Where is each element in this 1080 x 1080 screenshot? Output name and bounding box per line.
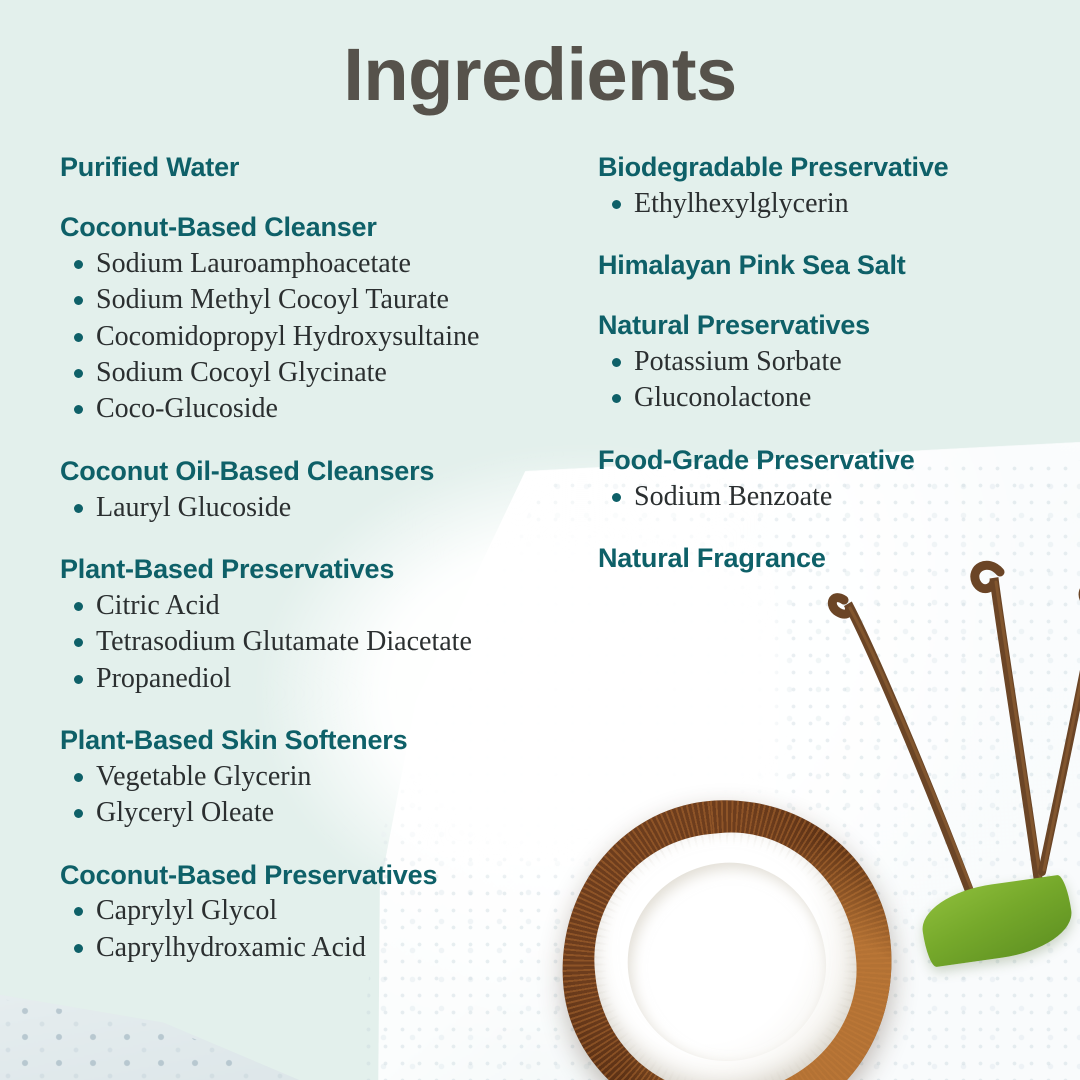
ingredient-group-heading: Plant-Based Skin Softeners <box>60 725 580 757</box>
ingredient-group: Himalayan Pink Sea Salt <box>598 250 1068 282</box>
ingredient-group: Plant-Based PreservativesCitric AcidTetr… <box>60 554 580 697</box>
ingredients-poster: Ingredients Purified WaterCoconut-Based … <box>0 0 1080 1080</box>
ingredient-group: Coconut-Based PreservativesCaprylyl Glyc… <box>60 860 580 967</box>
ingredient-group: Plant-Based Skin SoftenersVegetable Glyc… <box>60 725 580 832</box>
ingredient-group-heading: Coconut Oil-Based Cleansers <box>60 456 580 488</box>
ingredient-list: Sodium LauroamphoacetateSodium Methyl Co… <box>60 246 580 428</box>
ingredient-group: Food-Grade PreservativeSodium Benzoate <box>598 445 1068 515</box>
ingredient-list: Lauryl Glucoside <box>60 490 580 526</box>
page-title: Ingredients <box>0 38 1080 112</box>
ingredient-group-heading: Himalayan Pink Sea Salt <box>598 250 1068 282</box>
ingredient-group-heading: Purified Water <box>60 152 580 184</box>
ingredient-item: Propanediol <box>74 661 580 697</box>
ingredient-item: Caprylyl Glycol <box>74 893 580 929</box>
ingredients-column-right: Biodegradable PreservativeEthylhexylglyc… <box>598 152 1068 577</box>
ingredient-item: Tetrasodium Glutamate Diacetate <box>74 624 580 660</box>
ingredient-group: Coconut Oil-Based CleansersLauryl Glucos… <box>60 456 580 526</box>
ingredient-item: Sodium Benzoate <box>612 479 1068 515</box>
ingredient-list: Ethylhexylglycerin <box>598 186 1068 222</box>
ingredient-list: Potassium SorbateGluconolactone <box>598 344 1068 417</box>
ingredient-group: Biodegradable PreservativeEthylhexylglyc… <box>598 152 1068 222</box>
ingredient-item: Ethylhexylglycerin <box>612 186 1068 222</box>
ingredient-item: Citric Acid <box>74 588 580 624</box>
ingredient-list: Sodium Benzoate <box>598 479 1068 515</box>
ingredient-group: Purified Water <box>60 152 580 184</box>
ingredient-group: Coconut-Based CleanserSodium Lauroamphoa… <box>60 212 580 428</box>
ingredient-group-heading: Natural Fragrance <box>598 543 1068 575</box>
ingredient-item: Gluconolactone <box>612 380 1068 416</box>
ingredient-item: Sodium Cocoyl Glycinate <box>74 355 580 391</box>
ingredients-column-left: Purified WaterCoconut-Based CleanserSodi… <box>60 152 580 966</box>
ingredient-item: Glyceryl Oleate <box>74 795 580 831</box>
ingredient-group: Natural PreservativesPotassium SorbateGl… <box>598 310 1068 417</box>
ingredient-item: Sodium Methyl Cocoyl Taurate <box>74 282 580 318</box>
ingredient-item: Sodium Lauroamphoacetate <box>74 246 580 282</box>
ingredient-list: Citric AcidTetrasodium Glutamate Diaceta… <box>60 588 580 697</box>
ingredient-item: Cocomidopropyl Hydroxysultaine <box>74 319 580 355</box>
ingredient-group-heading: Plant-Based Preservatives <box>60 554 580 586</box>
ingredient-item: Caprylhydroxamic Acid <box>74 930 580 966</box>
ingredient-list: Caprylyl GlycolCaprylhydroxamic Acid <box>60 893 580 966</box>
ingredient-group-heading: Natural Preservatives <box>598 310 1068 342</box>
ingredient-list: Vegetable GlycerinGlyceryl Oleate <box>60 759 580 832</box>
ingredient-item: Vegetable Glycerin <box>74 759 580 795</box>
ingredient-group-heading: Biodegradable Preservative <box>598 152 1068 184</box>
ingredient-item: Potassium Sorbate <box>612 344 1068 380</box>
ingredient-group: Natural Fragrance <box>598 543 1068 575</box>
ingredient-group-heading: Food-Grade Preservative <box>598 445 1068 477</box>
ingredient-group-heading: Coconut-Based Cleanser <box>60 212 580 244</box>
ingredients-columns: Purified WaterCoconut-Based CleanserSodi… <box>0 152 1080 1052</box>
ingredient-item: Lauryl Glucoside <box>74 490 580 526</box>
ingredient-item: Coco-Glucoside <box>74 391 580 427</box>
ingredient-group-heading: Coconut-Based Preservatives <box>60 860 580 892</box>
